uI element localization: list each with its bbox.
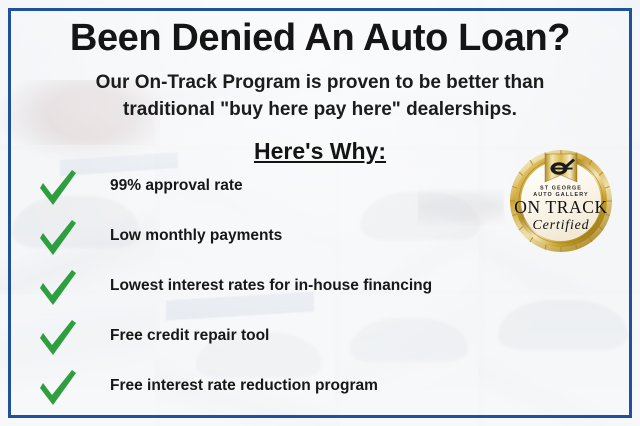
list-item-label: 99% approval rate (110, 177, 243, 195)
green-check-icon (36, 168, 78, 208)
list-item: Lowest interest rates for in-house finan… (36, 266, 506, 316)
heres-why-text: Here's Why: (254, 138, 386, 164)
list-item: Low monthly payments (36, 216, 506, 266)
list-item: Free credit repair tool (36, 316, 506, 366)
subheading-line-2: traditional "buy here pay here" dealersh… (60, 97, 580, 124)
seal-certified-text: Certified (533, 218, 590, 233)
page-title: Been Denied An Auto Loan? (0, 19, 640, 59)
green-check-icon (36, 368, 78, 408)
list-item: 99% approval rate (36, 166, 506, 216)
list-item-label: Free interest rate reduction program (110, 377, 378, 395)
subheading-line-1: Our On-Track Program is proven to be bet… (96, 72, 545, 93)
list-item-label: Low monthly payments (110, 227, 282, 245)
list-item-label: Lowest interest rates for in-house finan… (110, 277, 432, 295)
green-check-icon (36, 218, 78, 258)
green-check-icon (36, 268, 78, 308)
list-item-label: Free credit repair tool (110, 327, 269, 345)
seal-dealer-line-1: ST GEORGE (540, 186, 582, 192)
on-track-certified-seal: ST GEORGE AUTO GALLERY ON TRACK Certifie… (509, 149, 613, 253)
seal-program-text: ON TRACK (514, 197, 607, 217)
subheading: Our On-Track Program is proven to be bet… (60, 70, 580, 124)
auto-loan-advertisement: Been Denied An Auto Loan? Our On-Track P… (0, 0, 640, 426)
green-check-icon (36, 318, 78, 358)
benefits-list: 99% approval rate Low monthly payments L… (36, 166, 506, 416)
list-item: Free interest rate reduction program (36, 366, 506, 416)
